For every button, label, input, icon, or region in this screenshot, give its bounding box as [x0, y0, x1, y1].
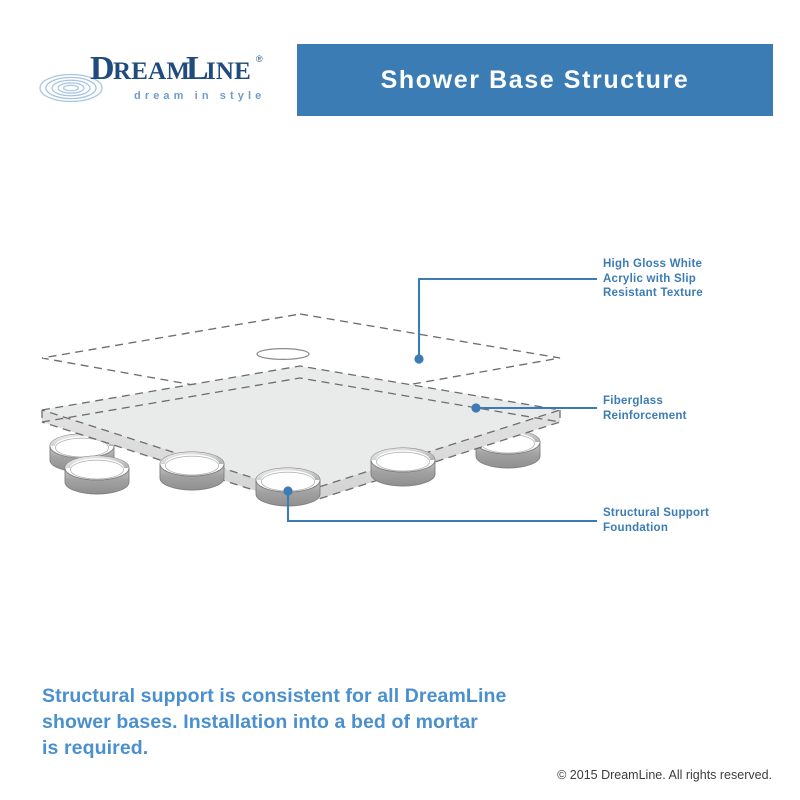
- page-header: D REAM L INE ® dream in style Shower Bas…: [0, 0, 800, 130]
- support-ring: [160, 452, 224, 490]
- callout-label-acrylic: High Gloss White Acrylic with Slip Resis…: [603, 257, 703, 301]
- callout-label-support: Structural Support Foundation: [603, 506, 709, 535]
- copyright-text: © 2015 DreamLine. All rights reserved.: [557, 768, 772, 782]
- drain-opening: [257, 349, 309, 360]
- header-banner: Shower Base Structure: [297, 44, 773, 116]
- svg-text:D: D: [90, 50, 115, 87]
- svg-text:®: ®: [256, 54, 263, 64]
- logo-tagline: dream in style: [134, 90, 265, 102]
- page-title: Shower Base Structure: [381, 66, 690, 95]
- svg-text:REAM: REAM: [113, 58, 190, 85]
- dreamline-logo[interactable]: D REAM L INE ® dream in style: [38, 48, 278, 110]
- footer-note: Structural support is consistent for all…: [42, 683, 542, 761]
- exploded-shower-base-diagram: [0, 130, 800, 650]
- support-ring: [371, 448, 435, 486]
- callout-label-fiberglass: Fiberglass Reinforcement: [603, 394, 687, 423]
- svg-text:INE: INE: [206, 58, 251, 85]
- page-root: D REAM L INE ® dream in style Shower Bas…: [0, 0, 800, 800]
- callout-leader-acrylic: [414, 279, 596, 364]
- support-ring: [65, 456, 129, 494]
- dreamline-wordmark: D REAM L INE ®: [90, 48, 290, 88]
